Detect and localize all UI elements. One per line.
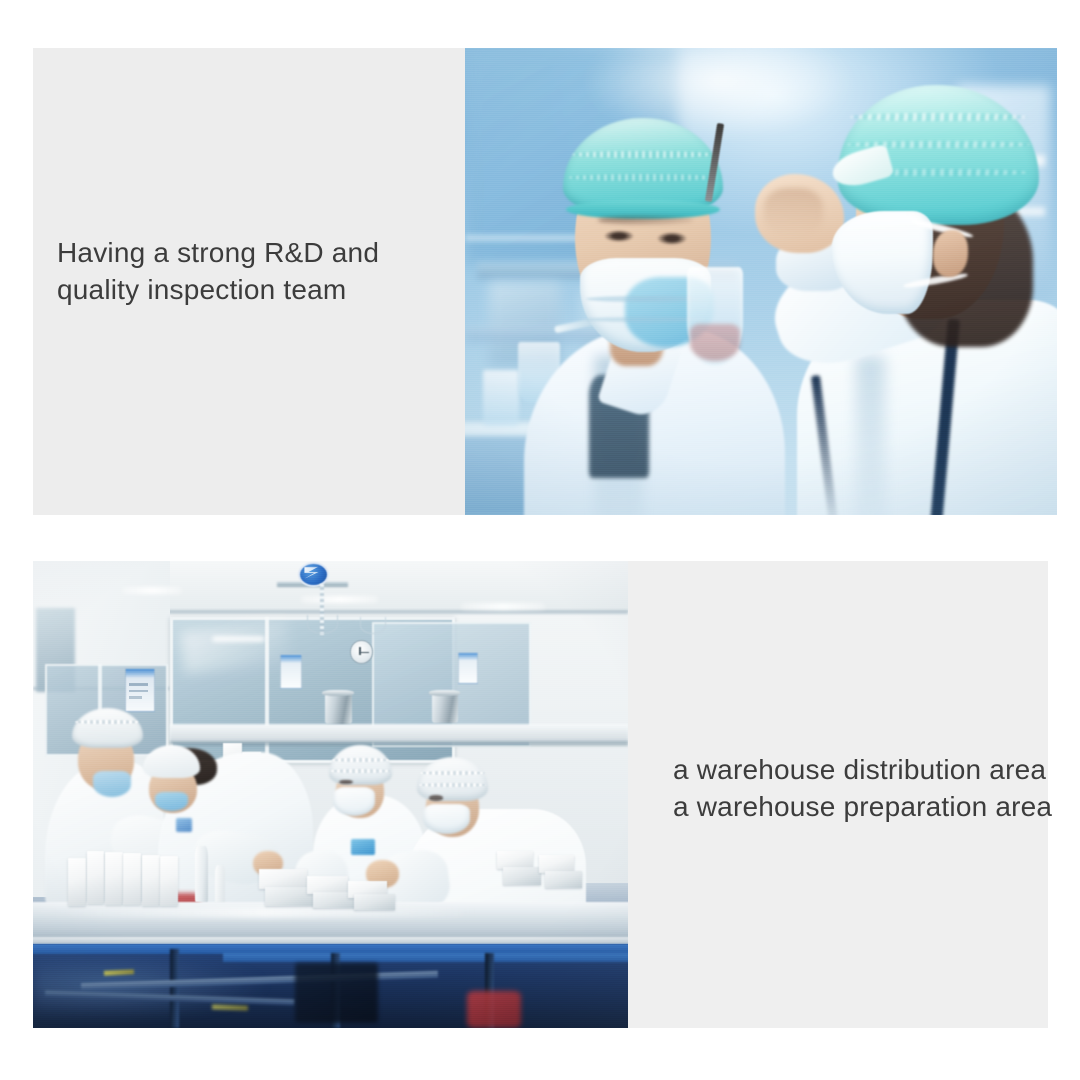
warehouse-caption-pane: a warehouse distribution area a warehous…: [628, 561, 1048, 1028]
warehouse-photo-grain: [33, 561, 628, 1028]
warehouse-photo-pane: [33, 561, 628, 1028]
rnd-photo-pane: [465, 48, 1057, 515]
rnd-caption-pane: Having a strong R&D and quality inspecti…: [33, 48, 465, 515]
page-root: Having a strong R&D and quality inspecti…: [0, 0, 1080, 1080]
warehouse-panel: a warehouse distribution area a warehous…: [33, 561, 1048, 1028]
warehouse-packing-photo: [33, 561, 628, 1028]
warehouse-caption-text: a warehouse distribution area a warehous…: [673, 751, 1080, 825]
lab-inspection-photo: [465, 48, 1057, 515]
rnd-caption-text: Having a strong R&D and quality inspecti…: [57, 234, 457, 308]
rnd-quality-panel: Having a strong R&D and quality inspecti…: [33, 48, 1057, 515]
lab-photo-grain: [465, 48, 1057, 515]
